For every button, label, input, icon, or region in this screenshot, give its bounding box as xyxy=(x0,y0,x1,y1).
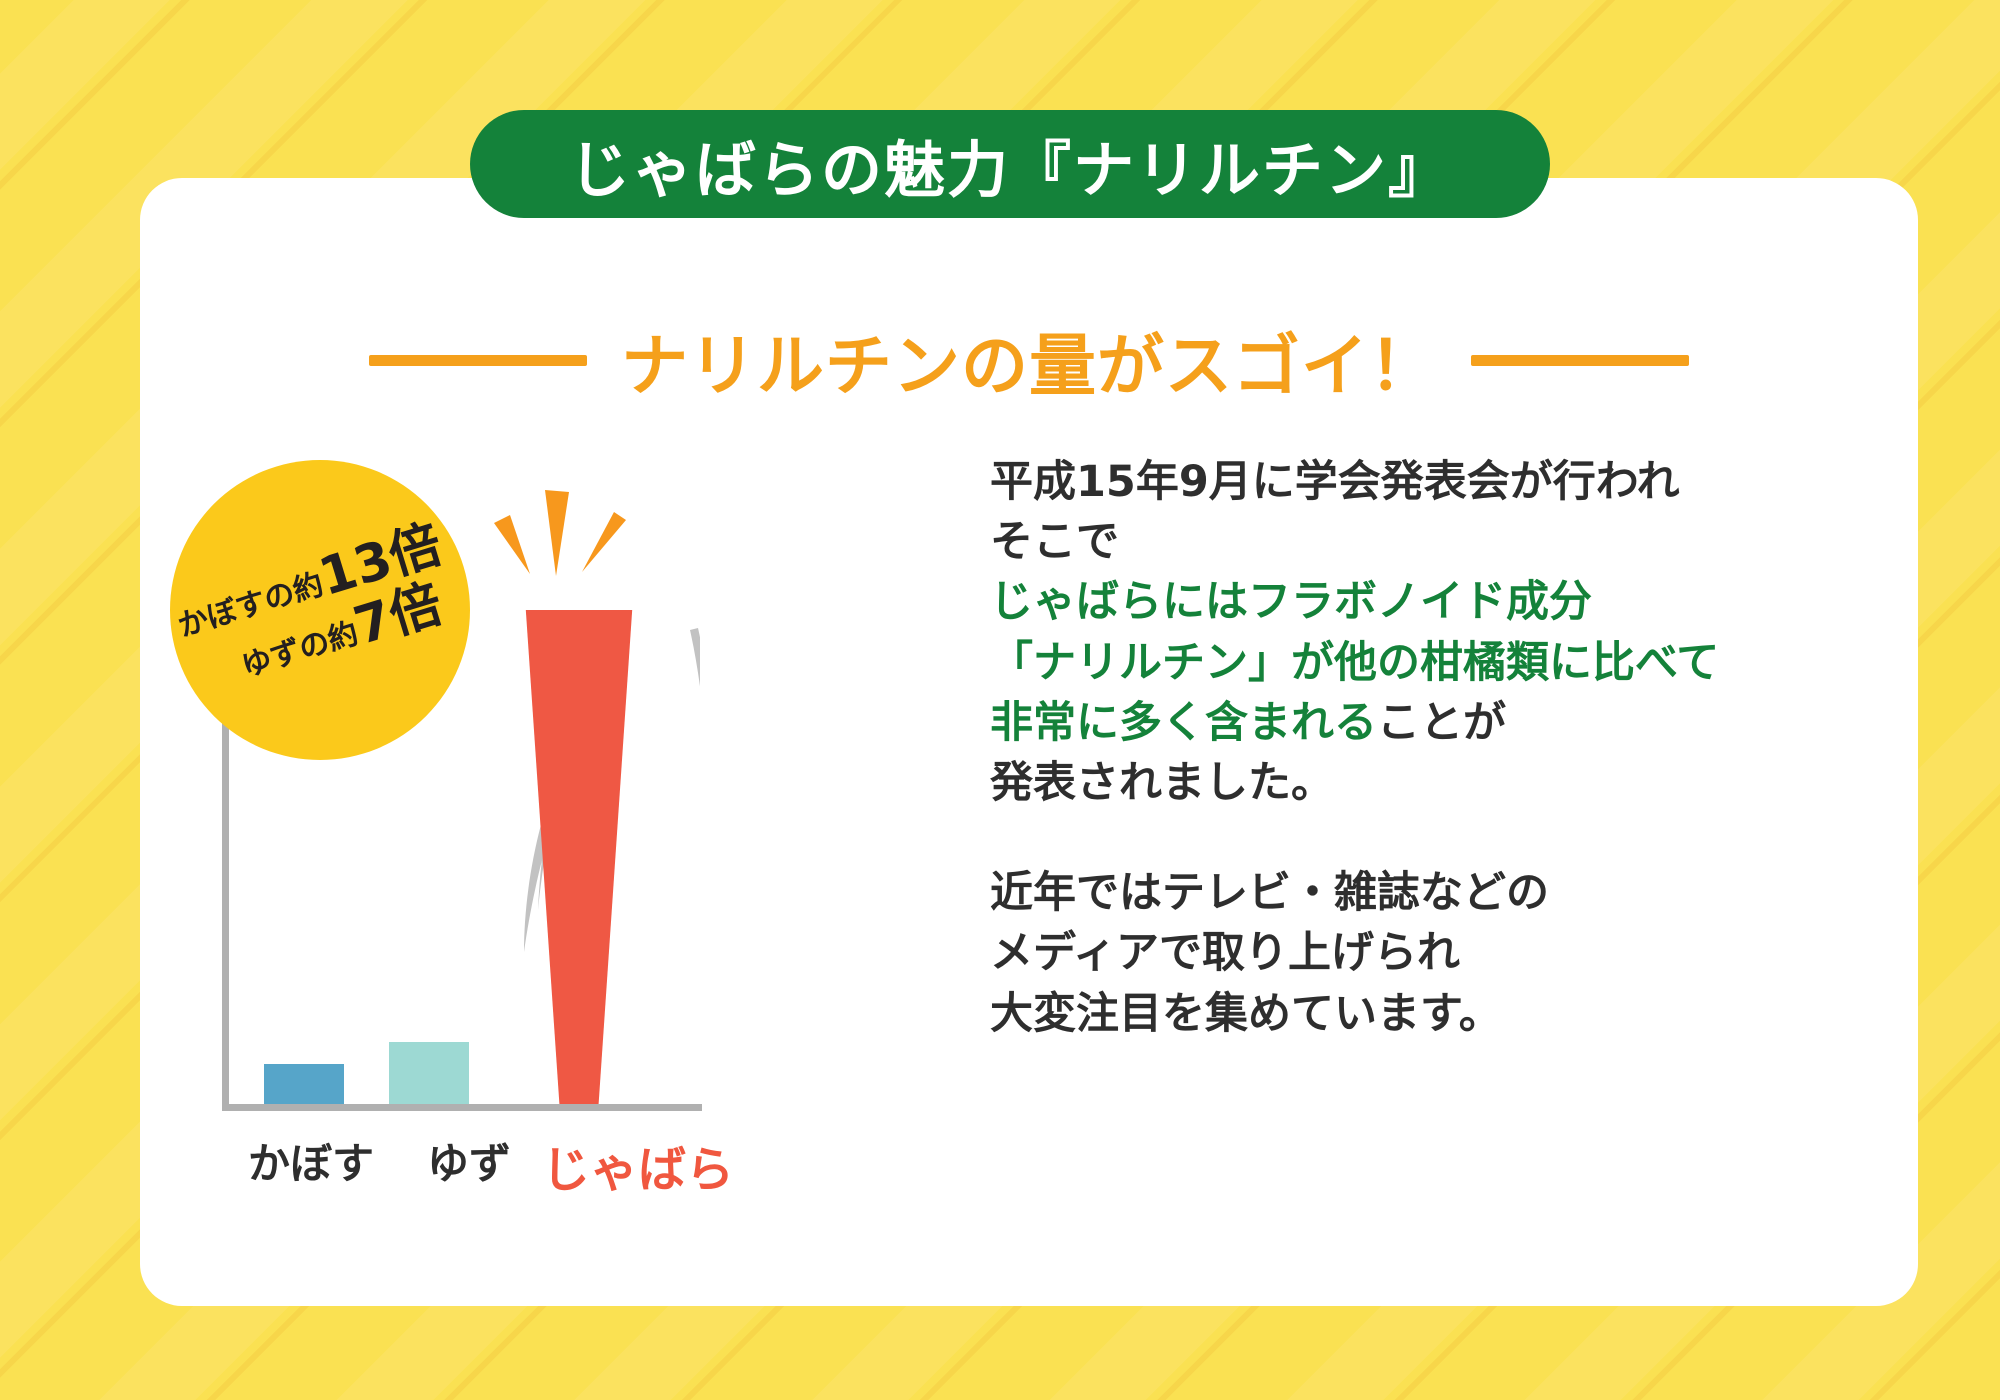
body-line-5-green: 非常に多く含まれる xyxy=(990,698,1377,748)
chart-x-tick-labels: かぼす ゆず じゃばら xyxy=(222,1130,782,1200)
sparkle-burst-icon xyxy=(490,488,630,578)
paragraph-2: 近年ではテレビ・雑誌などの メディアで取り上げられ 大変注目を集めています。 xyxy=(990,863,1830,1044)
body-line-5-dark: ことが xyxy=(1377,698,1506,748)
body-line-4: 「ナリルチン」が他の柑橘類に比べて xyxy=(990,633,1830,693)
body-text-block: 平成15年9月に学会発表会が行われ そこで じゃばらにはフラボノイド成分 「ナリ… xyxy=(990,452,1830,1044)
body-line-3: じゃばらにはフラボノイド成分 xyxy=(990,572,1830,632)
body-line-5: 非常に多く含まれることが xyxy=(990,693,1830,753)
subtitle-rule-left-icon xyxy=(369,355,587,366)
page-title: じゃばらの魅力『ナリルチン』 xyxy=(569,120,1451,209)
body-line-6: 発表されました。 xyxy=(990,753,1830,813)
chart-x-axis xyxy=(222,1104,702,1111)
bar-chart: かぼすの約13倍 ゆずの約7倍 かぼす ゆず じゃばら xyxy=(180,440,880,1200)
multiplier-badge: かぼすの約13倍 ゆずの約7倍 xyxy=(170,460,470,760)
x-tick-yuzu: ゆず xyxy=(427,1130,511,1191)
body-line-2: そこで xyxy=(990,512,1830,572)
x-tick-kabosu: かぼす xyxy=(248,1130,374,1191)
x-tick-jabara: じゃばら xyxy=(542,1130,734,1200)
paragraph-spacer xyxy=(990,813,1830,863)
bar-kabosu xyxy=(264,1064,344,1104)
paragraph-1: 平成15年9月に学会発表会が行われ そこで じゃばらにはフラボノイド成分 「ナリ… xyxy=(990,452,1830,813)
subtitle-rule-right-icon xyxy=(1471,355,1689,366)
header-banner: じゃばらの魅力『ナリルチン』 xyxy=(470,110,1550,218)
subtitle-text: ナリルチンの量がスゴイ！ xyxy=(621,312,1437,409)
body-line-7: 近年ではテレビ・雑誌などの xyxy=(990,863,1830,923)
body-line-9: 大変注目を集めています。 xyxy=(990,984,1830,1044)
bar-yuzu xyxy=(389,1042,469,1104)
body-line-8: メディアで取り上げられ xyxy=(990,923,1830,983)
body-line-1: 平成15年9月に学会発表会が行われ xyxy=(990,452,1830,512)
subtitle-row: ナリルチンの量がスゴイ！ xyxy=(140,300,1918,420)
